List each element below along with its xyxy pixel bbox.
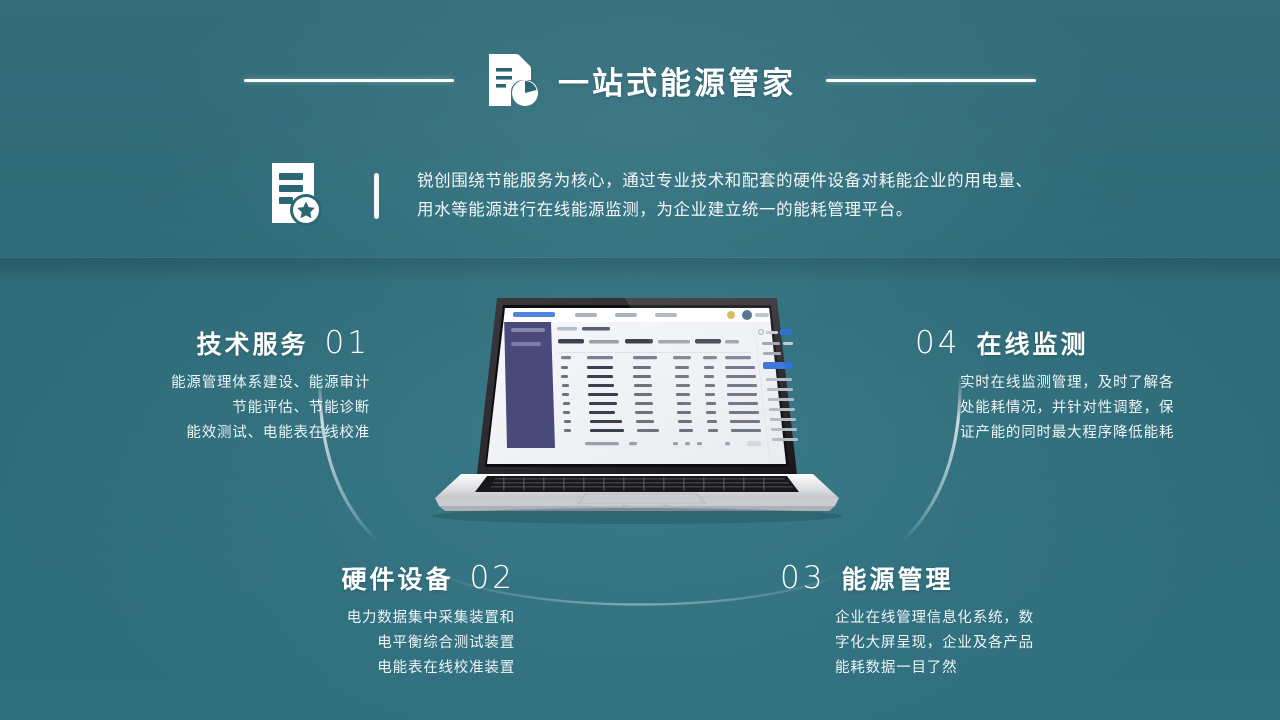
feature-03-name: 能源管理	[841, 560, 953, 596]
feature-02-heading: 硬件设备 02	[170, 560, 515, 596]
description-line-2: 用水等能源进行在线能源监测，为企业建立统一的能耗管理平台。	[417, 196, 1033, 225]
feature-04-heading: 04 在线监测	[915, 325, 1270, 361]
band-edge-shadow	[0, 258, 1280, 284]
feature-02-line-2: 电平衡综合测试装置	[170, 631, 515, 656]
feature-02-line-3: 电能表在线校准装置	[170, 656, 515, 681]
feature-04-line-3: 证产能的同时最大程序降低能耗	[960, 421, 1270, 446]
feature-block-01: 技术服务 01 能源管理体系建设、能源审计 节能评估、节能诊断 能效测试、电能表…	[10, 325, 370, 446]
feature-01-line-1: 能源管理体系建设、能源审计	[10, 371, 370, 396]
header-title-group: 一站式能源管家	[484, 50, 796, 110]
page-title: 一站式能源管家	[558, 58, 796, 103]
feature-block-02: 硬件设备 02 电力数据集中采集装置和 电平衡综合测试装置 电能表在线校准装置	[170, 560, 515, 681]
feature-03-body: 企业在线管理信息化系统，数 字化大屏呈现，企业及各产品 能耗数据一目了然	[835, 606, 1140, 681]
feature-block-03: 03 能源管理 企业在线管理信息化系统，数 字化大屏呈现，企业及各产品 能耗数据…	[780, 560, 1140, 681]
feature-04-number: 04	[915, 325, 960, 361]
feature-01-line-2: 节能评估、节能诊断	[10, 396, 370, 421]
feature-04-line-1: 实时在线监测管理，及时了解各	[960, 371, 1270, 396]
feature-03-number: 03	[780, 560, 825, 596]
description-divider	[374, 173, 379, 219]
feature-02-line-1: 电力数据集中采集装置和	[170, 606, 515, 631]
feature-03-line-2: 字化大屏呈现，企业及各产品	[835, 631, 1140, 656]
feature-01-body: 能源管理体系建设、能源审计 节能评估、节能诊断 能效测试、电能表在线校准	[10, 371, 370, 446]
feature-01-number: 01	[325, 325, 370, 361]
feature-block-04: 04 在线监测 实时在线监测管理，及时了解各 处能耗情况，并针对性调整，保 证产…	[915, 325, 1270, 446]
feature-03-heading: 03 能源管理	[780, 560, 1140, 596]
feature-02-body: 电力数据集中采集装置和 电平衡综合测试装置 电能表在线校准装置	[170, 606, 515, 681]
document-pie-chart-icon	[484, 50, 540, 110]
feature-04-line-2: 处能耗情况，并针对性调整，保	[960, 396, 1270, 421]
feature-04-name: 在线监测	[976, 325, 1088, 361]
band-edge-line	[0, 257, 1280, 258]
feature-03-line-3: 能耗数据一目了然	[835, 656, 1140, 681]
feature-01-heading: 技术服务 01	[10, 325, 370, 361]
feature-02-name: 硬件设备	[342, 560, 454, 596]
feature-04-body: 实时在线监测管理，及时了解各 处能耗情况，并针对性调整，保 证产能的同时最大程序…	[960, 371, 1270, 446]
header-rule-right	[826, 79, 1036, 82]
laptop-mockup	[425, 296, 855, 531]
feature-01-name: 技术服务	[197, 325, 309, 361]
slide-canvas: 一站式能源管家 锐创围绕节能服务为核心，通过专业技术和配套的硬件设备对耗能企业的…	[0, 0, 1280, 720]
feature-01-line-3: 能效测试、电能表在线校准	[10, 421, 370, 446]
feature-03-line-1: 企业在线管理信息化系统，数	[835, 606, 1140, 631]
page-header: 一站式能源管家	[0, 46, 1280, 114]
feature-02-number: 02	[470, 560, 515, 596]
description-text: 锐创围绕节能服务为核心，通过专业技术和配套的硬件设备对耗能企业的用电量、 用水等…	[417, 167, 1033, 225]
header-rule-left	[244, 79, 454, 82]
description-block: 锐创围绕节能服务为核心，通过专业技术和配套的硬件设备对耗能企业的用电量、 用水等…	[266, 160, 1033, 232]
document-star-icon	[266, 160, 330, 232]
description-line-1: 锐创围绕节能服务为核心，通过专业技术和配套的硬件设备对耗能企业的用电量、	[417, 167, 1033, 196]
